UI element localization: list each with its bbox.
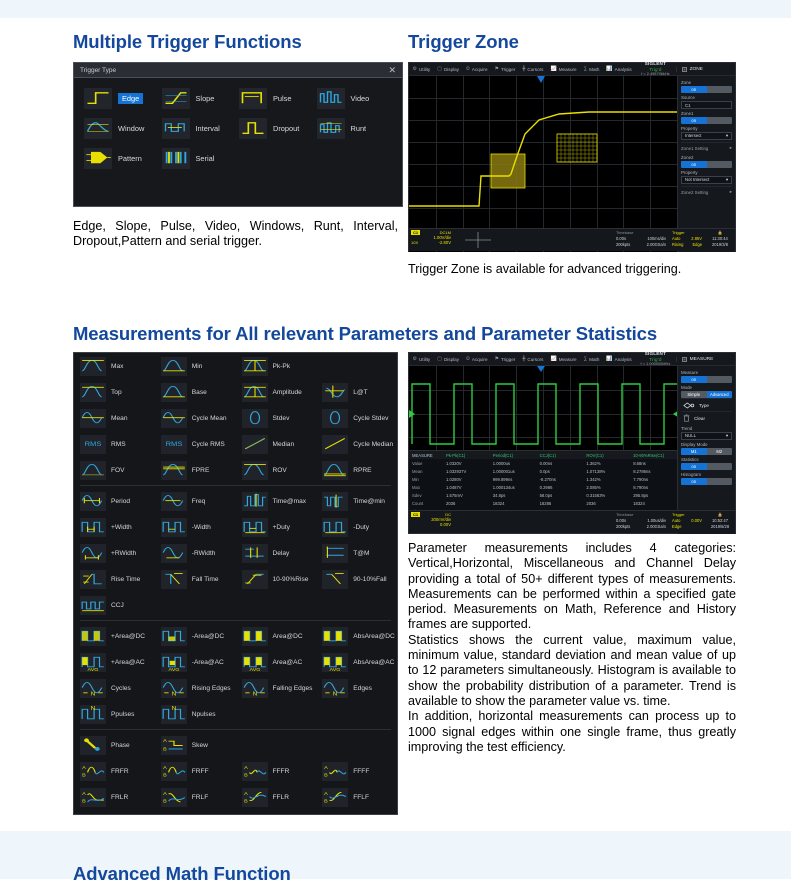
fflr-icon: AB: [242, 788, 268, 807]
measure-waveform-area[interactable]: [409, 366, 677, 461]
table-cell: 0.31583%: [583, 493, 630, 498]
top-icon: [80, 383, 106, 402]
measure-scope-menubar: ⚙Utility▢Display⏲Acquire⚑Trigger╋Cursors…: [409, 353, 735, 366]
measurement-item-label: +Width: [111, 524, 132, 531]
measurement-item-label: Pk-Pk: [273, 363, 291, 370]
table-row: Value1.0320V1.0000us0.00ns1.362%8.68ns: [409, 459, 677, 467]
trend-select[interactable]: NULL▾: [681, 432, 732, 440]
source-value[interactable]: C1: [681, 101, 732, 109]
display-mode-m1[interactable]: M1: [681, 448, 707, 455]
measurement-statistics-table[interactable]: MEASUREPk-Pk(C1)Period(C1)CCJ(C1)ROV(C1)…: [409, 450, 677, 511]
cycle-mean-icon: [161, 409, 187, 428]
table-cell: 1.0000us: [490, 461, 537, 466]
fall-90-10-icon: [322, 570, 348, 589]
zone2-toggle[interactable]: on: [681, 161, 732, 168]
measurement-item-label: 10-90%Rise: [273, 576, 309, 583]
table-row: Max1.0487V1.000134us0.29862.085%8.790ns: [409, 483, 677, 491]
table-cell: 1.0320V: [443, 461, 490, 466]
trigger-type-label: Serial: [196, 154, 215, 163]
measurement-item-label: FRLF: [192, 794, 208, 801]
table-cell: 0.2986: [537, 485, 584, 490]
trigger-type-item-runt[interactable]: Runt: [317, 118, 395, 139]
property1-value: Intersect: [685, 132, 701, 140]
menu-item-label: Display: [444, 67, 459, 72]
measurement-item-median[interactable]: Median: [236, 431, 317, 457]
measurement-item-rwidth[interactable]: +RWidth: [74, 540, 155, 566]
measurement-item-rov[interactable]: ROV: [236, 457, 317, 483]
measurement-item-area-ac[interactable]: AVGArea@AC: [236, 649, 317, 675]
measurement-item-rwidth[interactable]: -RWidth: [155, 540, 236, 566]
pulse-trigger-icon: [239, 88, 267, 109]
zone-toggle-off[interactable]: [707, 86, 733, 93]
analysis-icon: 📊: [606, 66, 612, 72]
neg-area-ac-icon: AVG: [161, 653, 187, 672]
measurement-item-label: FRFF: [192, 768, 209, 775]
trigger-type-item-serial[interactable]: Serial: [162, 148, 240, 169]
zone-panel-title: ZONE: [690, 67, 703, 72]
measure-clock-group: 🔒 10:52:47 2019/6/28: [705, 511, 735, 533]
measurement-item-frff[interactable]: ABFRFF: [155, 758, 236, 784]
svg-text:N: N: [333, 691, 338, 696]
measurement-item-frlf[interactable]: ABFRLF: [155, 784, 236, 810]
measure-timebase-group[interactable]: Timebase 0.00s1.00us/div 200kpts2.00GSa/…: [613, 511, 669, 533]
table-cell: 1.575mV: [443, 493, 490, 498]
section-title-trigger-zone: Trigger Zone: [408, 32, 519, 52]
histogram-toggle[interactable]: on: [681, 478, 732, 485]
measurement-item-label: +Duty: [273, 524, 290, 531]
measurement-item-area-ac[interactable]: AVG+Area@AC: [74, 649, 155, 675]
table-column-header: 10-90%Rise(C1): [630, 453, 677, 458]
measure-trigger-edge: Edge: [672, 524, 702, 530]
measurement-item-mean[interactable]: Mean: [74, 405, 155, 431]
cycle-stdev-icon: [322, 409, 348, 428]
fall-time-icon: [161, 570, 187, 589]
zone-date: 2019/3/8: [708, 242, 732, 248]
catalog-empty-cell: [316, 732, 397, 758]
measure-toggle[interactable]: on: [681, 376, 732, 383]
trigger-type-dialog[interactable]: Trigger Type ✕ EdgeSlopePulseVideoWindow…: [73, 62, 403, 207]
measurement-item-label: Rising Edges: [192, 685, 231, 692]
menu-item-label: Acquire: [472, 357, 488, 362]
menu-item-math[interactable]: ∑Math: [580, 356, 603, 362]
svg-text:A: A: [163, 765, 167, 770]
measurement-item-ccj[interactable]: CCJ: [74, 592, 155, 618]
trigger-type-item-pattern[interactable]: Pattern: [84, 148, 162, 169]
period-icon: [80, 492, 106, 511]
trigger-type-dialog-title: Trigger Type: [77, 67, 116, 74]
measurement-item-10-90-rise[interactable]: 10-90%Rise: [236, 566, 317, 592]
frlr-icon: AB: [80, 788, 106, 807]
measurement-item-absarea-ac[interactable]: AVGAbsArea@AC: [316, 649, 397, 675]
chevron-down-icon: ▾: [726, 176, 728, 184]
zone-waveform-svg: [409, 76, 677, 252]
window-trigger-icon: [84, 118, 112, 139]
svg-text:AVG: AVG: [168, 667, 179, 671]
statistics-toggle-on[interactable]: on: [681, 463, 707, 470]
measurement-item-label: Top: [111, 389, 122, 396]
chevron-down-icon: ▾: [726, 432, 728, 440]
zone1-toggle-on[interactable]: on: [681, 117, 707, 124]
zone-waveform-area[interactable]: [409, 76, 677, 252]
measurement-item-label: Base: [192, 389, 207, 396]
trend-label: Trend: [681, 426, 732, 431]
pos-area-dc-icon: [80, 627, 106, 646]
section-title-measurements: Measurements for All relevant Parameters…: [73, 324, 657, 344]
measurement-item-label: FFLF: [353, 794, 369, 801]
chevron-right-icon: ▸: [730, 189, 732, 195]
table-column-header: Pk-Pk(C1): [443, 453, 490, 458]
svg-text:RMS: RMS: [165, 441, 182, 447]
trigger-type-label: Video: [351, 94, 370, 103]
npulses-icon: N: [161, 705, 187, 724]
measurement-item-absarea-dc[interactable]: AbsArea@DC: [316, 623, 397, 649]
page-content: Multiple Trigger Functions Trigger Type …: [0, 0, 791, 879]
measure-panel-header: MEASURE: [676, 357, 735, 362]
zone1-rect: [491, 154, 525, 188]
measurement-item-cycle-median[interactable]: Cycle Median: [316, 431, 397, 457]
measurement-item-frfr[interactable]: ABFRFR: [74, 758, 155, 784]
svg-text:A: A: [163, 738, 167, 743]
measurement-item-label: -RWidth: [192, 550, 216, 557]
menu-item-acquire[interactable]: ⏲Acquire: [463, 66, 491, 72]
zone2-label: Zone2: [681, 155, 732, 160]
ppulses-icon: N: [80, 705, 106, 724]
menu-item-utility[interactable]: ⚙Utility: [409, 66, 434, 72]
measurement-item-label: Delay: [273, 550, 290, 557]
measurement-item-rms[interactable]: RMSRMS: [74, 431, 155, 457]
measurement-item-area-dc[interactable]: Area@DC: [236, 623, 317, 649]
measurement-item-label: Fall Time: [192, 576, 219, 583]
measurement-item-label: FRLR: [111, 794, 128, 801]
measurement-item-label: FFFR: [273, 768, 290, 775]
catalog-empty-cell: [236, 732, 317, 758]
measurement-item-width[interactable]: +Width: [74, 514, 155, 540]
zone2-setting-row[interactable]: Zone2 Setting▸: [681, 186, 732, 197]
menu-item-trigger[interactable]: ⚑Trigger: [491, 356, 519, 362]
mode-toggle[interactable]: SimpleAdvanced: [681, 391, 732, 398]
trigger-type-item-window[interactable]: Window: [84, 118, 162, 139]
table-cell: 8.68ns: [630, 461, 677, 466]
measurement-item-cycles[interactable]: NCycles: [74, 675, 155, 701]
menu-item-utility[interactable]: ⚙Utility: [409, 356, 434, 362]
table-cell: 8.2786ns: [630, 469, 677, 474]
mode-advanced-option[interactable]: Advanced: [707, 391, 733, 398]
measurement-item-label: FFLR: [273, 794, 289, 801]
zone2-toggle-on[interactable]: on: [681, 161, 707, 168]
measurement-item-fffr[interactable]: ABFFFR: [236, 758, 317, 784]
measurement-item-rpre[interactable]: RPRE: [316, 457, 397, 483]
trigger-icon: ⚑: [495, 66, 499, 72]
trigger-zone-scope-screenshot: ⚙Utility▢Display⏲Acquire⚑Trigger╋Cursors…: [408, 62, 736, 252]
freq-icon: [161, 492, 187, 511]
menu-item-measure[interactable]: 📈Measure: [547, 356, 580, 362]
measure-channel-tag: C1: [411, 512, 420, 517]
measure-side-panel[interactable]: Measure on Mode SimpleAdvanced Type Clea…: [677, 366, 735, 534]
measurement-item-label: Mean: [111, 415, 128, 422]
amplitude-icon: [242, 383, 268, 402]
table-row-label: Min: [409, 477, 443, 482]
zone-timebase-group[interactable]: Timebase 0.00s100ms/div 200kpts2.00GSa/s: [613, 229, 669, 251]
display-mode-m2[interactable]: M2: [707, 448, 733, 455]
measurement-item-label: -Duty: [353, 524, 369, 531]
measurement-item-area-dc[interactable]: +Area@DC: [74, 623, 155, 649]
zone-scope-brand: SIGLENT Trig'd f = 2.495796kHz: [635, 61, 675, 76]
measure-date: 2019/6/28: [708, 524, 732, 530]
measurement-item-time-min[interactable]: Time@min: [316, 488, 397, 514]
menu-item-acquire[interactable]: ⏲Acquire: [463, 356, 491, 362]
measurement-item-edges[interactable]: NEdges: [316, 675, 397, 701]
zone-panel-header: ZONE: [676, 67, 735, 72]
measurement-parameter-catalog[interactable]: MaxMinPk-PkTopBaseAmplitudeL@TMeanCycle …: [73, 352, 398, 815]
neg-rwidth-icon: [161, 544, 187, 563]
measurement-item-phase[interactable]: Phase: [74, 732, 155, 758]
frff-icon: AB: [161, 762, 187, 781]
measure-scope-brand: SIGLENT Trig'd f = 1.000000MHz: [635, 351, 675, 366]
menu-item-cursors[interactable]: ╋Cursors: [519, 356, 547, 362]
trigger-type-item-video[interactable]: Video: [317, 88, 395, 109]
zone-side-panel[interactable]: Zone on Source C1 Zone1 on Property Inte…: [677, 76, 735, 252]
measurement-item-time-max[interactable]: Time@max: [236, 488, 317, 514]
measurement-item-cycle-stdev[interactable]: Cycle Stdev: [316, 405, 397, 431]
lat-icon: [322, 383, 348, 402]
menu-item-display[interactable]: ▢Display: [434, 356, 463, 362]
table-cell: 1.000134us: [490, 485, 537, 490]
histogram-toggle-off[interactable]: [707, 478, 733, 485]
measure-trigger-group[interactable]: Trigger Auto0.00V Edge: [669, 511, 705, 533]
catalog-group-channel-delay: PhaseABSkewABFRFRABFRFFABFFFRABFFFFABFRL…: [74, 732, 397, 810]
measurement-item-label: T@M: [353, 550, 369, 557]
table-row: Count20361832418286203618324: [409, 500, 677, 508]
menu-item-analysis[interactable]: 📊Analysis: [603, 356, 635, 362]
zone2-setting-label: Zone2 Setting: [681, 190, 708, 195]
menu-item-trigger[interactable]: ⚑Trigger: [491, 66, 519, 72]
zone1-toggle[interactable]: on: [681, 117, 732, 124]
measurement-item-duty[interactable]: +Duty: [236, 514, 317, 540]
zone1-setting-row[interactable]: Zone1 Setting▸: [681, 142, 732, 153]
trigger-type-item-interval[interactable]: Interval: [162, 118, 240, 139]
property1-select[interactable]: Intersect▾: [681, 132, 732, 140]
measurement-item-label: Skew: [192, 742, 208, 749]
measurement-item-npulses[interactable]: NNpulses: [155, 701, 236, 727]
zone-trigger-slope: Rising: [672, 242, 683, 248]
statistics-toggle[interactable]: on: [681, 463, 732, 470]
measurement-item-l-t[interactable]: L@T: [316, 379, 397, 405]
svg-text:AVG: AVG: [330, 667, 341, 671]
measurement-item-rising-edges[interactable]: NRising Edges: [155, 675, 236, 701]
trigger-type-label: Edge: [118, 93, 143, 104]
catalog-group-separator: [80, 729, 391, 730]
analysis-icon: 📊: [606, 356, 612, 362]
measurement-item-label: Time@max: [273, 498, 307, 505]
trash-icon: [683, 414, 690, 422]
measurement-item-delay[interactable]: Delay: [236, 540, 317, 566]
measurement-item-width[interactable]: -Width: [155, 514, 236, 540]
property2-select[interactable]: Not Intersect▾: [681, 176, 732, 184]
measurement-item-base[interactable]: Base: [155, 379, 236, 405]
cycle-median-icon: [322, 435, 348, 454]
table-cell: 1.0280V: [443, 477, 490, 482]
pos-area-ac-icon: AVG: [80, 653, 106, 672]
menu-item-math[interactable]: ∑Math: [580, 66, 603, 72]
trigger-zone-caption-text: Trigger Zone is available for advanced t…: [408, 262, 736, 277]
zone-channel-info[interactable]: C1DC1M 1.00V/div 10X-2.80V: [409, 229, 453, 251]
measurement-item-fflf[interactable]: ABFFLF: [316, 784, 397, 810]
trigger-type-item-edge[interactable]: Edge: [84, 88, 162, 109]
section-title-trigger-functions: Multiple Trigger Functions: [73, 32, 302, 52]
svg-text:N: N: [91, 706, 96, 711]
trigger-type-label: Runt: [351, 124, 367, 133]
base-icon: [161, 383, 187, 402]
zone1-toggle-off[interactable]: [707, 117, 733, 124]
runt-trigger-icon: [317, 118, 345, 139]
trigger-type-item-pulse[interactable]: Pulse: [239, 88, 317, 109]
serial-trigger-icon: [162, 148, 190, 169]
measurement-item-area-dc[interactable]: -Area@DC: [155, 623, 236, 649]
zone-sample-points: 200kpts: [616, 242, 630, 248]
slope-trigger-icon: [162, 88, 190, 109]
catalog-group-miscellaneous: +Area@DC-Area@DCArea@DCAbsArea@DCAVG+Are…: [74, 623, 397, 727]
measurement-item-min[interactable]: Min: [155, 353, 236, 379]
type-row[interactable]: Type: [681, 398, 732, 411]
zone-offset: -2.80V: [439, 240, 451, 245]
pattern-trigger-icon: [84, 148, 112, 169]
display-mode-toggle[interactable]: M1M2: [681, 448, 732, 455]
measurements-paragraph-3: In addition, horizontal measurements can…: [408, 709, 736, 755]
measurement-item-stdev[interactable]: Stdev: [236, 405, 317, 431]
catalog-group-separator: [80, 620, 391, 621]
measurement-item-falling-edges[interactable]: NFalling Edges: [236, 675, 317, 701]
measurement-item-rise-time[interactable]: Rise Time: [74, 566, 155, 592]
measurement-item-label: Area@DC: [273, 633, 303, 640]
menu-item-measure[interactable]: 📈Measure: [547, 66, 580, 72]
neg-width-icon: [161, 518, 187, 537]
histogram-toggle-on[interactable]: on: [681, 478, 707, 485]
measurement-item-cycle-rms[interactable]: RMSCycle RMS: [155, 431, 236, 457]
measurement-item-fpre[interactable]: FPRE: [155, 457, 236, 483]
zone-label: Zone: [681, 80, 732, 85]
measurement-item-freq[interactable]: Freq: [155, 488, 236, 514]
zone-toggle-on[interactable]: on: [681, 86, 707, 93]
statistics-toggle-off[interactable]: [707, 463, 733, 470]
measurement-item-amplitude[interactable]: Amplitude: [236, 379, 317, 405]
measurement-item-duty[interactable]: -Duty: [316, 514, 397, 540]
table-cell: 34.8ps: [490, 493, 537, 498]
mean-icon: [80, 409, 106, 428]
chevron-right-icon: ▸: [730, 145, 732, 151]
measure-sample-points: 200kpts: [616, 524, 630, 530]
utility-icon: ⚙: [413, 356, 417, 362]
menu-item-label: Trigger: [501, 357, 515, 362]
zone1-setting-label: Zone1 Setting: [681, 146, 708, 151]
fov-icon: [80, 461, 106, 480]
measure-icon: 📈: [550, 66, 556, 72]
trigger-type-item-slope[interactable]: Slope: [162, 88, 240, 109]
source-label: Source: [681, 95, 732, 100]
close-icon[interactable]: ✕: [388, 66, 399, 75]
measurement-item-fflr[interactable]: ABFFLR: [236, 784, 317, 810]
measurement-item-ppulses[interactable]: NPpulses: [74, 701, 155, 727]
type-icon: [683, 402, 695, 409]
trigger-functions-caption-text: Edge, Slope, Pulse, Video, Windows, Runt…: [73, 219, 398, 250]
measurements-description: Parameter measurements includes 4 catego…: [408, 541, 736, 755]
menu-item-display[interactable]: ▢Display: [434, 66, 463, 72]
measurement-item-area-ac[interactable]: AVG-Area@AC: [155, 649, 236, 675]
rpre-icon: [322, 461, 348, 480]
catalog-empty-cell: [316, 701, 397, 727]
measurement-item-pk-pk[interactable]: Pk-Pk: [236, 353, 317, 379]
menu-item-label: Acquire: [472, 67, 488, 72]
measurement-item-max[interactable]: Max: [74, 353, 155, 379]
table-row: Min1.0280V999.899ns-8.270ns1.342%7.790ns: [409, 475, 677, 483]
measure-scope-bottom-bar: C1DC 200mV/div 0.00V Timebase 0.00s1.00u…: [409, 510, 735, 533]
svg-text:A: A: [324, 765, 328, 770]
measurement-item-t-m[interactable]: T@M: [316, 540, 397, 566]
svg-text:B: B: [324, 773, 328, 778]
measurement-item-fall-time[interactable]: Fall Time: [155, 566, 236, 592]
table-cell: 999.899ns: [490, 477, 537, 482]
measurement-item-90-10-fall[interactable]: 90-10%Fall: [316, 566, 397, 592]
table-cell: 2036: [583, 501, 630, 506]
catalog-empty-cell: [316, 353, 397, 379]
measurement-item-label: Median: [273, 441, 295, 448]
measurement-item-label: Freq: [192, 498, 206, 505]
measurement-item-fov[interactable]: FOV: [74, 457, 155, 483]
trigger-type-item-dropout[interactable]: Dropout: [239, 118, 317, 139]
measure-toggle-on[interactable]: on: [681, 376, 707, 383]
measurement-item-ffff[interactable]: ABFFFF: [316, 758, 397, 784]
property1-label: Property: [681, 126, 732, 131]
zone2-toggle-off[interactable]: [707, 161, 733, 168]
zone-scope-menubar: ⚙Utility▢Display⏲Acquire⚑Trigger╋Cursors…: [409, 63, 735, 76]
measurement-item-top[interactable]: Top: [74, 379, 155, 405]
measurement-item-frlr[interactable]: ABFRLR: [74, 784, 155, 810]
svg-text:N: N: [171, 691, 176, 696]
neg-area-dc-icon: [161, 627, 187, 646]
zone-toggle[interactable]: on: [681, 86, 732, 93]
svg-text:A: A: [163, 791, 167, 796]
abs-area-ac-icon: AVG: [322, 653, 348, 672]
clear-row[interactable]: Clear: [681, 411, 732, 424]
ccj-icon: [80, 596, 106, 615]
measurement-item-label: Max: [111, 363, 123, 370]
abs-area-dc-icon: [322, 627, 348, 646]
measure-toggle-off[interactable]: [707, 376, 733, 383]
menu-item-cursors[interactable]: ╋Cursors: [519, 66, 547, 72]
rov-icon: [242, 461, 268, 480]
menu-item-analysis[interactable]: 📊Analysis: [603, 66, 635, 72]
trigger-type-grid: EdgeSlopePulseVideoWindowIntervalDropout…: [74, 78, 402, 175]
catalog-group-horizontal: PeriodFreqTime@maxTime@min+Width-Width+D…: [74, 488, 397, 618]
measurement-item-label: Period: [111, 498, 130, 505]
measure-label: Measure: [681, 370, 732, 375]
menu-item-label: Cursors: [527, 357, 543, 362]
zone-trigger-group[interactable]: Trigger Auto2.95V RisingEdge: [669, 229, 705, 251]
table-row-label: Count: [409, 501, 443, 506]
measurement-item-cycle-mean[interactable]: Cycle Mean: [155, 405, 236, 431]
measure-channel-info[interactable]: C1DC 200mV/div 0.00V: [409, 511, 453, 533]
cursors-icon: ╋: [522, 66, 525, 72]
measurement-item-label: FRFR: [111, 768, 129, 775]
mode-label: Mode: [681, 385, 732, 390]
neg-duty-icon: [322, 518, 348, 537]
measurement-item-label: Min: [192, 363, 203, 370]
measurement-item-label: Phase: [111, 742, 130, 749]
svg-text:A: A: [324, 791, 328, 796]
table-row-label: Max: [409, 485, 443, 490]
mode-simple-option[interactable]: Simple: [681, 391, 707, 398]
measurement-item-period[interactable]: Period: [74, 488, 155, 514]
measurement-item-skew[interactable]: ABSkew: [155, 732, 236, 758]
